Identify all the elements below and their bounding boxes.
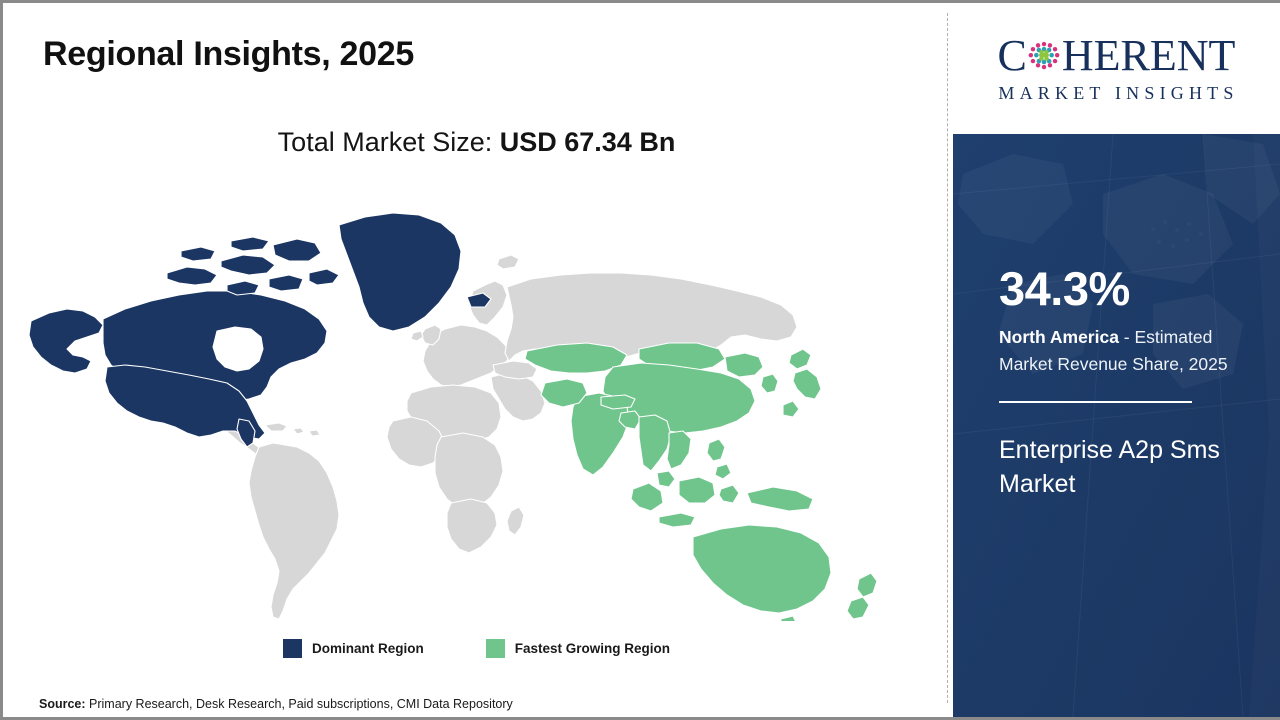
stats-panel: 34.3% North America - Estimated Market R…	[953, 134, 1280, 717]
map-legend: Dominant Region Fastest Growing Region	[3, 639, 950, 658]
legend-item-fastest-growing: Fastest Growing Region	[486, 639, 670, 658]
legend-item-dominant: Dominant Region	[283, 639, 424, 658]
market-size-value: USD 67.34 Bn	[500, 127, 676, 157]
market-name: Enterprise A2p Sms Market	[999, 433, 1234, 501]
logo-subtitle: MARKET INSIGHTS	[994, 83, 1238, 104]
company-logo: C	[953, 3, 1280, 134]
source-label: Source:	[39, 697, 86, 711]
legend-label-fastest-growing: Fastest Growing Region	[515, 641, 670, 656]
share-percentage: 34.3%	[999, 265, 1234, 312]
dotted-globe-icon	[1027, 39, 1061, 73]
market-size-label: Total Market Size:	[278, 127, 500, 157]
stats-content: 34.3% North America - Estimated Market R…	[953, 265, 1280, 501]
left-panel: Regional Insights, 2025 Total Market Siz…	[3, 3, 950, 717]
legend-swatch-fastest-growing	[486, 639, 505, 658]
logo-letter-c: C	[998, 34, 1027, 78]
source-text: Primary Research, Desk Research, Paid su…	[86, 697, 513, 711]
source-note: Source: Primary Research, Desk Research,…	[39, 697, 513, 711]
share-description: North America - Estimated Market Revenue…	[999, 324, 1234, 377]
map-fastest-growing-regions	[525, 343, 877, 621]
stats-divider-rule	[999, 401, 1192, 403]
panel-divider	[947, 13, 948, 703]
logo-letters-herent: HERENT	[1062, 34, 1236, 78]
page-title: Regional Insights, 2025	[43, 35, 414, 74]
share-region-name: North America	[999, 327, 1119, 347]
logo-wordmark: C	[998, 34, 1236, 78]
infographic-root: Regional Insights, 2025 Total Market Siz…	[0, 0, 1280, 720]
world-map	[21, 181, 921, 621]
total-market-size: Total Market Size: USD 67.34 Bn	[3, 127, 950, 158]
legend-swatch-dominant	[283, 639, 302, 658]
right-panel: C	[953, 3, 1280, 717]
legend-label-dominant: Dominant Region	[312, 641, 424, 656]
world-map-container	[21, 181, 921, 621]
